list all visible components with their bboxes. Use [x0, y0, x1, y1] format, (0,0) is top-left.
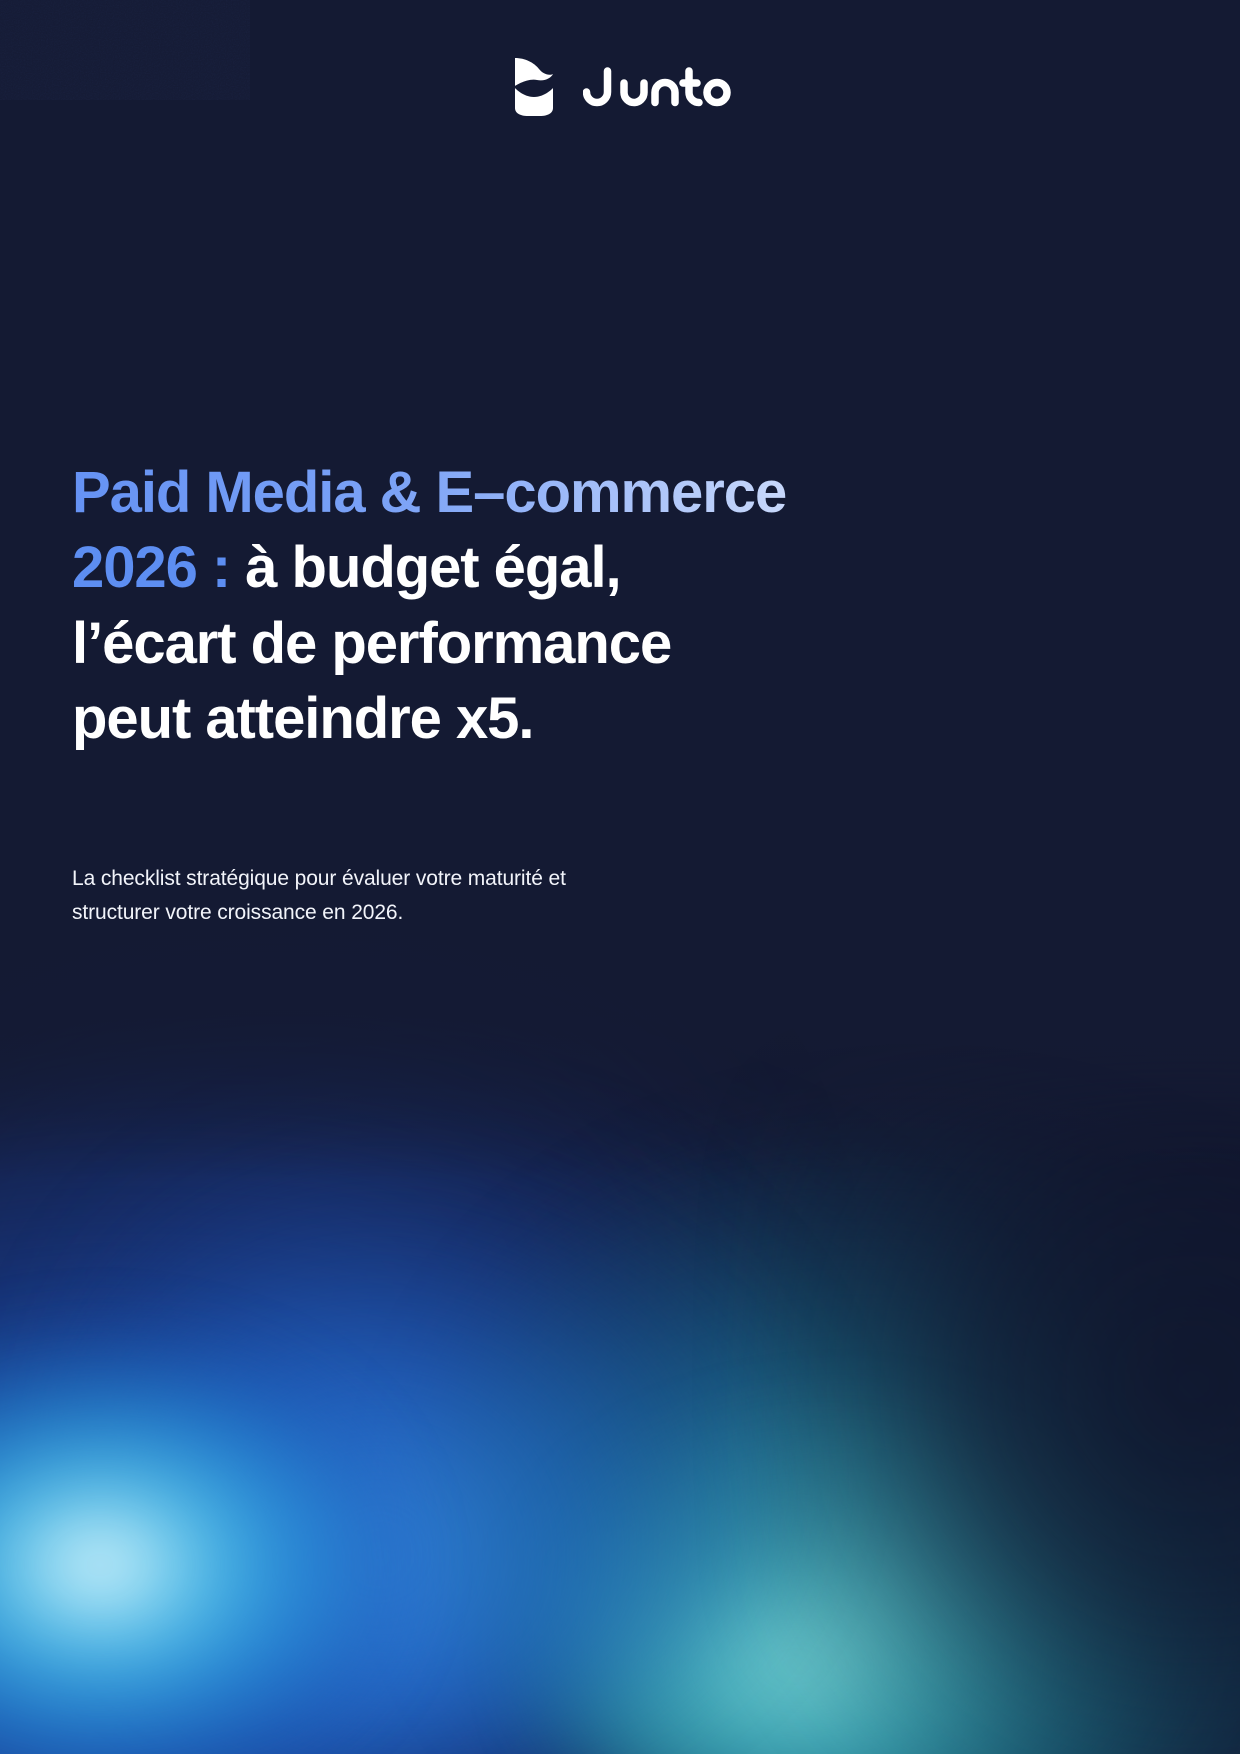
cover-content: Paid Media & E–commerce 2026 : à budget …: [0, 0, 1240, 1754]
headline-line-1-accent: Paid Media & E–commerce: [72, 460, 786, 525]
page-subtitle: La checklist stratégique pour évaluer vo…: [72, 862, 572, 930]
junto-boat-mark-icon: [507, 56, 565, 118]
headline-line-4: peut atteindre x5.: [72, 686, 533, 751]
brand-logo[interactable]: [0, 56, 1240, 118]
headline-line-2-rest: à budget égal,: [230, 535, 620, 600]
cover-page: Paid Media & E–commerce 2026 : à budget …: [0, 0, 1240, 1754]
junto-wordmark: [583, 61, 733, 113]
headline-line-3: l’écart de performance: [72, 611, 671, 676]
headline-line-2-accent: 2026 :: [72, 535, 230, 600]
page-title: Paid Media & E–commerce 2026 : à budget …: [72, 455, 952, 757]
